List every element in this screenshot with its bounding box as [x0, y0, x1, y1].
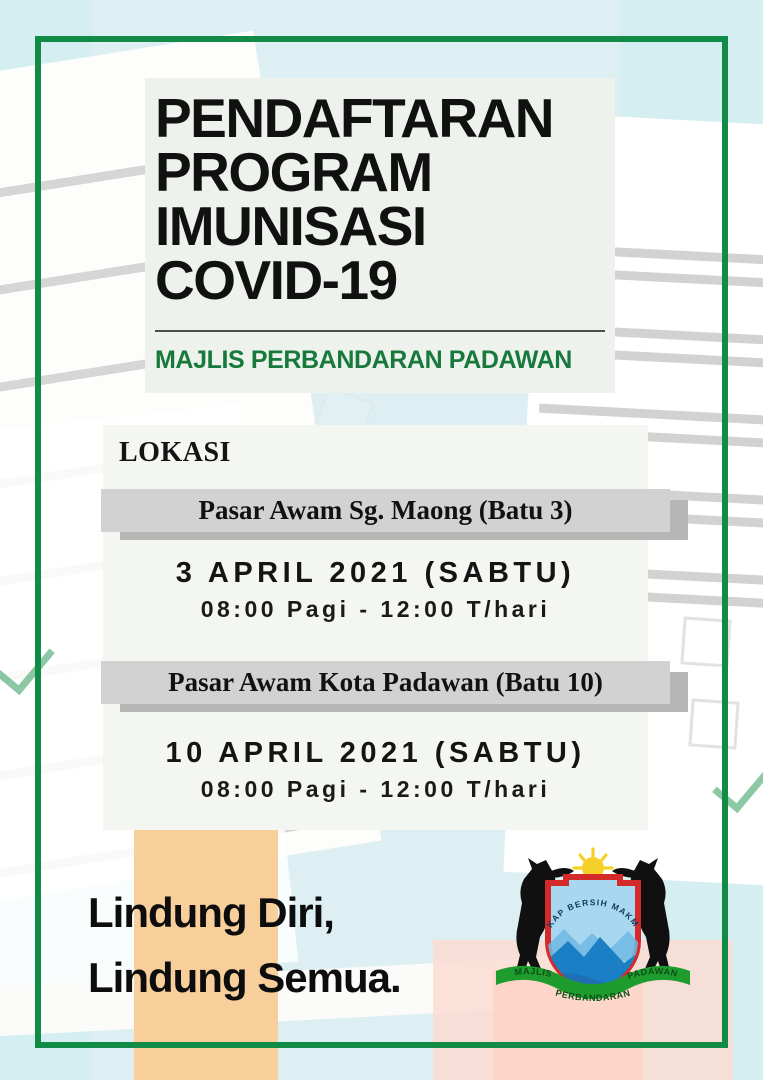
organization-subtitle: MAJLIS PERBANDARAN PADAWAN [155, 346, 615, 375]
session-date-1: 3 APRIL 2021 (SABTU) [103, 557, 648, 590]
tagline-line-2: Lindung Semua. [88, 945, 401, 1010]
location-name-2: Pasar Awam Kota Padawan (Batu 10) [168, 667, 603, 698]
title-line-4: COVID-19 [155, 254, 615, 308]
title-divider [155, 330, 605, 332]
background-checkbox-1 [680, 616, 731, 667]
tagline-line-1: Lindung Diri, [88, 880, 401, 945]
tagline: Lindung Diri, Lindung Semua. [88, 880, 401, 1010]
session-time-2: 08:00 Pagi - 12:00 T/hari [103, 776, 648, 803]
location-bar-2: Pasar Awam Kota Padawan (Batu 10) [101, 661, 670, 704]
poster-canvas: PENDAFTARAN PROGRAM IMUNISASI COVID-19 M… [0, 0, 763, 1080]
background-checkbox-2 [688, 698, 739, 749]
session-datetime-1: 3 APRIL 2021 (SABTU) 08:00 Pagi - 12:00 … [103, 557, 648, 623]
location-name-1: Pasar Awam Sg. Maong (Batu 3) [198, 495, 572, 526]
session-date-2: 10 APRIL 2021 (SABTU) [103, 737, 648, 770]
page-title: PENDAFTARAN PROGRAM IMUNISASI COVID-19 [155, 92, 615, 308]
session-time-1: 08:00 Pagi - 12:00 T/hari [103, 596, 648, 623]
session-datetime-2: 10 APRIL 2021 (SABTU) 08:00 Pagi - 12:00… [103, 737, 648, 803]
title-card: PENDAFTARAN PROGRAM IMUNISASI COVID-19 M… [145, 78, 615, 393]
title-line-1: PENDAFTARAN [155, 92, 615, 146]
location-bar-1: Pasar Awam Sg. Maong (Batu 3) [101, 489, 670, 532]
section-label-lokasi: LOKASI [119, 437, 231, 469]
municipal-crest-logo: CEKAP BERSIH MAKMUR MAJLIS PERBANDARAN P… [488, 845, 698, 1020]
title-line-2: PROGRAM [155, 146, 615, 200]
title-line-3: IMUNISASI [155, 200, 615, 254]
